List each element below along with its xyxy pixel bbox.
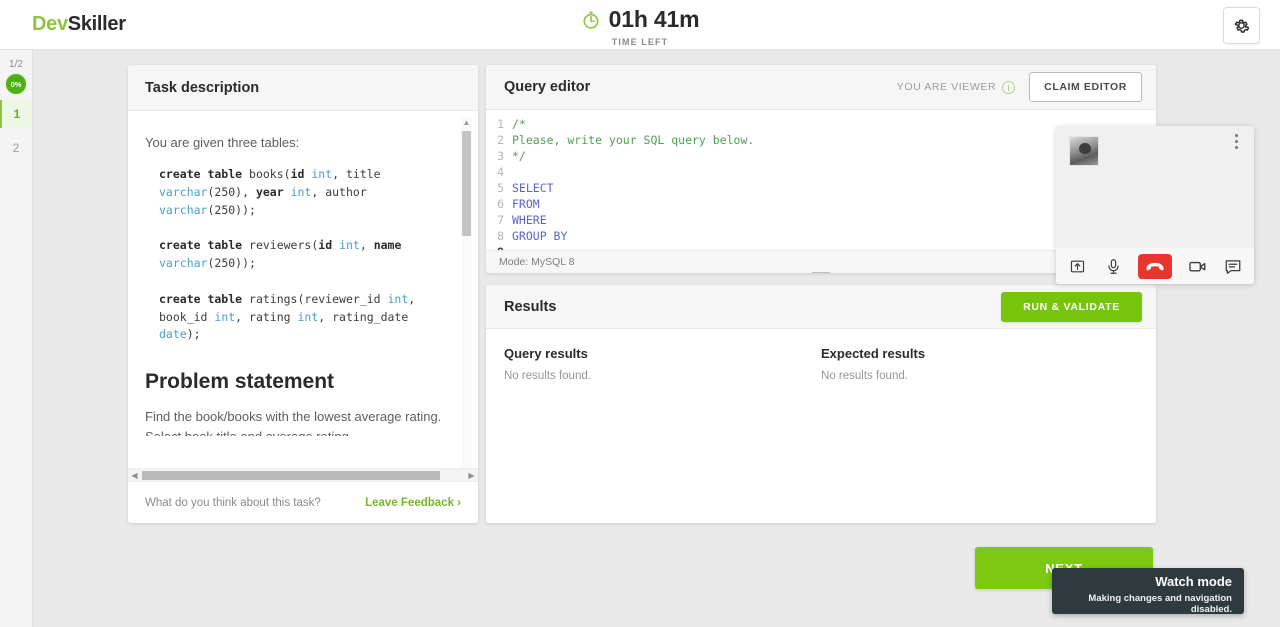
info-icon[interactable]: i bbox=[1002, 81, 1015, 94]
sidebar-item-1-label: 1 bbox=[14, 107, 21, 121]
code-token: ratings(reviewer_id bbox=[242, 292, 387, 306]
results-header: Results RUN & VALIDATE bbox=[486, 285, 1156, 329]
expected-results-column: Expected results No results found. bbox=[821, 346, 1138, 382]
sidebar-progress-badge: 0% bbox=[6, 74, 26, 94]
camera-button[interactable] bbox=[1186, 255, 1208, 277]
editor-line-text: SELECT bbox=[512, 180, 554, 196]
screen-share-button[interactable] bbox=[1066, 255, 1088, 277]
results-title: Results bbox=[504, 299, 556, 315]
query-results-column: Query results No results found. bbox=[504, 346, 821, 382]
code-token: book_id bbox=[159, 310, 214, 324]
timer-value: 01h 41m bbox=[609, 6, 700, 33]
editor-line-number: 2 bbox=[486, 132, 512, 148]
results-body: Query results No results found. Expected… bbox=[486, 329, 1156, 382]
hangup-icon bbox=[1145, 260, 1165, 273]
task-hscroll-thumb[interactable] bbox=[142, 471, 440, 480]
code-token: , title bbox=[332, 167, 380, 181]
microphone-button[interactable] bbox=[1102, 255, 1124, 277]
code-token: , rating_date bbox=[318, 310, 408, 324]
code-token: create table bbox=[159, 238, 242, 252]
code-token: , rating bbox=[235, 310, 297, 324]
editor-line-number: 4 bbox=[486, 164, 512, 180]
camera-icon bbox=[1188, 258, 1207, 275]
task-scroll-thumb[interactable] bbox=[462, 131, 471, 236]
editor-line-number: 5 bbox=[486, 180, 512, 196]
editor-line-number: 3 bbox=[486, 148, 512, 164]
hangup-button[interactable] bbox=[1138, 254, 1172, 279]
sidebar-item-2[interactable]: 2 bbox=[0, 134, 32, 162]
code-token: create table bbox=[159, 167, 242, 181]
editor-mode-label: Mode: MySQL 8 bbox=[499, 256, 574, 268]
code-token: int bbox=[291, 185, 312, 199]
viewer-status-label: YOU ARE VIEWER bbox=[897, 81, 996, 93]
code-token: ); bbox=[187, 327, 201, 341]
code-token: create table bbox=[159, 292, 242, 306]
task-description-body: You are given three tables: create table… bbox=[128, 111, 478, 436]
editor-line-text: WHERE bbox=[512, 212, 547, 228]
timer: 01h 41m TIME LEFT bbox=[0, 6, 1280, 47]
code-token: int bbox=[388, 292, 409, 306]
stopwatch-icon bbox=[581, 10, 601, 30]
chat-button[interactable] bbox=[1222, 255, 1244, 277]
kebab-menu-icon[interactable] bbox=[1235, 134, 1238, 152]
code-token: varchar bbox=[159, 256, 207, 270]
timer-label: TIME LEFT bbox=[0, 37, 1280, 47]
code-token: int bbox=[311, 167, 332, 181]
code-token: reviewers( bbox=[242, 238, 318, 252]
editor-resize-handle[interactable] bbox=[812, 270, 830, 273]
code-token: id bbox=[291, 167, 305, 181]
task-intro-text: You are given three tables: bbox=[145, 133, 456, 153]
code-token bbox=[159, 274, 166, 288]
code-token: , bbox=[360, 238, 374, 252]
watch-mode-toast: Watch mode Making changes and navigation… bbox=[1052, 568, 1244, 614]
top-bar: DevSkiller 01h 41m TIME LEFT bbox=[0, 0, 1280, 50]
task-description-title: Task description bbox=[145, 80, 259, 96]
editor-line-number: 6 bbox=[486, 196, 512, 212]
code-token: books( bbox=[242, 167, 290, 181]
code-token: (250)); bbox=[207, 203, 255, 217]
chat-icon bbox=[1224, 258, 1242, 275]
code-token: name bbox=[374, 238, 402, 252]
sidebar-item-2-label: 2 bbox=[13, 141, 20, 155]
query-editor-header: Query editor YOU ARE VIEWER i CLAIM EDIT… bbox=[486, 65, 1156, 110]
leave-feedback-link[interactable]: Leave Feedback › bbox=[365, 497, 461, 509]
code-token: varchar bbox=[159, 203, 207, 217]
code-token: date bbox=[159, 327, 187, 341]
toast-message: Making changes and navigation disabled. bbox=[1064, 593, 1232, 615]
expected-results-title: Expected results bbox=[821, 346, 1138, 361]
results-panel: Results RUN & VALIDATE Query results No … bbox=[486, 285, 1156, 523]
editor-line-text: Please, write your SQL query below. bbox=[512, 132, 754, 148]
code-token bbox=[284, 185, 291, 199]
query-results-text: No results found. bbox=[504, 370, 821, 382]
query-editor-title: Query editor bbox=[504, 79, 590, 95]
feedback-question: What do you think about this task? bbox=[145, 497, 321, 509]
run-and-validate-button[interactable]: RUN & VALIDATE bbox=[1001, 292, 1142, 322]
claim-editor-button[interactable]: CLAIM EDITOR bbox=[1029, 72, 1142, 102]
screen-share-icon bbox=[1069, 258, 1086, 275]
code-token: int bbox=[214, 310, 235, 324]
problem-statement-heading: Problem statement bbox=[145, 370, 456, 394]
editor-line-number: 7 bbox=[486, 212, 512, 228]
code-token bbox=[159, 221, 166, 235]
sidebar-item-1[interactable]: 1 bbox=[0, 100, 32, 128]
problem-statement-line-2: Select book title and average rating. bbox=[145, 427, 456, 436]
gear-icon bbox=[1232, 16, 1251, 35]
editor-line-text: /* bbox=[512, 116, 526, 132]
code-token: int bbox=[339, 238, 360, 252]
video-call-controls bbox=[1056, 248, 1254, 284]
editor-line-number: 8 bbox=[486, 228, 512, 244]
task-vertical-scrollbar[interactable]: ▲ ▼ bbox=[461, 117, 472, 523]
video-call-widget bbox=[1056, 126, 1254, 284]
left-sidebar: 1/2 0% 1 2 bbox=[0, 50, 33, 627]
code-token: int bbox=[297, 310, 318, 324]
editor-line-text: */ bbox=[512, 148, 526, 164]
task-horizontal-scrollbar[interactable]: ◀ ▶ bbox=[128, 468, 478, 481]
microphone-icon bbox=[1105, 258, 1122, 275]
code-token: (250)); bbox=[207, 256, 255, 270]
problem-statement-line-1: Find the book/books with the lowest aver… bbox=[145, 407, 456, 427]
scroll-up-arrow-icon[interactable]: ▲ bbox=[461, 117, 472, 128]
editor-line-text: GROUP BY bbox=[512, 228, 567, 244]
editor-line-number: 1 bbox=[486, 116, 512, 132]
code-token: year bbox=[256, 185, 284, 199]
task-feedback-footer: What do you think about this task? Leave… bbox=[128, 481, 478, 523]
code-token: id bbox=[318, 238, 332, 252]
toast-title: Watch mode bbox=[1064, 574, 1232, 589]
task-schema-code: create table books(id int, title varchar… bbox=[159, 166, 456, 344]
participant-avatar bbox=[1069, 136, 1099, 166]
sidebar-task-fraction: 1/2 bbox=[0, 50, 32, 70]
settings-button[interactable] bbox=[1223, 7, 1260, 44]
code-token: , author bbox=[311, 185, 366, 199]
app-root: DevSkiller 01h 41m TIME LEFT 1/2 bbox=[0, 0, 1280, 627]
query-results-title: Query results bbox=[504, 346, 821, 361]
code-token: varchar bbox=[159, 185, 207, 199]
expected-results-text: No results found. bbox=[821, 370, 1138, 382]
code-token: , bbox=[408, 292, 415, 306]
editor-line-text: FROM bbox=[512, 196, 540, 212]
task-description-header: Task description bbox=[128, 65, 478, 111]
code-token: (250), bbox=[207, 185, 255, 199]
task-description-panel: Task description You are given three tab… bbox=[128, 65, 478, 523]
